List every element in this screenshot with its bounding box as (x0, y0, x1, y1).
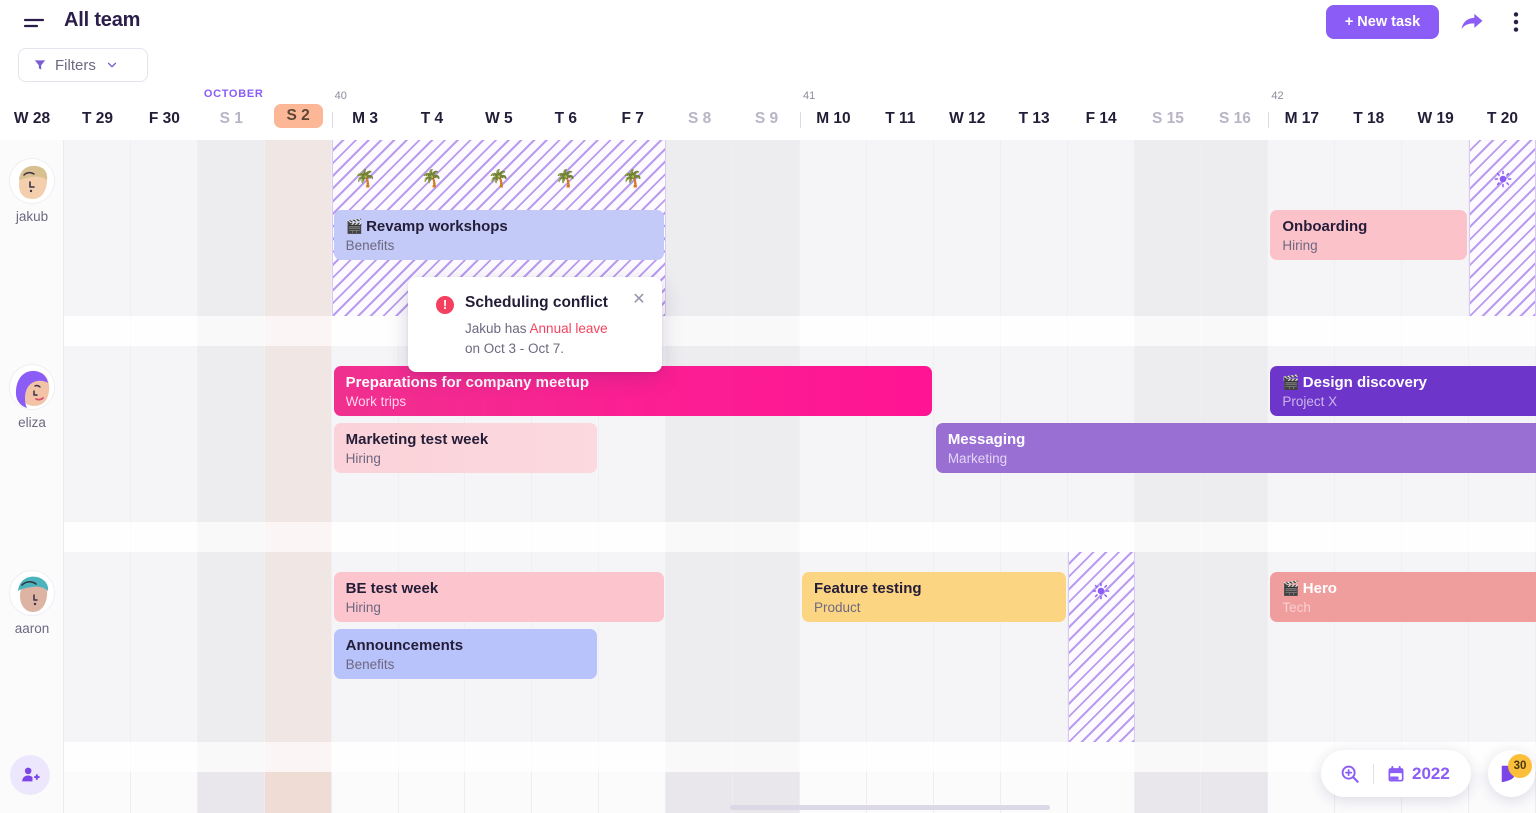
task-project: Work trips (346, 394, 932, 410)
date-label: S 1 (220, 110, 243, 128)
task-project: Benefits (346, 657, 598, 673)
row-gap (64, 522, 1536, 552)
task-project: Product (814, 600, 1066, 616)
person-name: eliza (6, 415, 58, 430)
sidebar-person[interactable]: aaron (6, 570, 58, 636)
date-header-cell[interactable]: T 29 (64, 88, 131, 140)
date-label: F 30 (149, 110, 180, 128)
conflict-title: Scheduling conflict (465, 294, 608, 312)
date-label: F 14 (1086, 110, 1117, 128)
timeline-date-header: W 28T 29F 30S 1S 2M 3T 4W 5T 6F 7S 8S 9M… (0, 88, 1536, 140)
task-bar[interactable]: AnnouncementsBenefits (334, 629, 598, 679)
task-bar[interactable]: Feature testingProduct (802, 572, 1066, 622)
task-bar[interactable]: Preparations for company meetupWork trip… (334, 366, 932, 416)
date-header-cell[interactable]: S 2 (265, 88, 332, 140)
date-label: M 10 (816, 110, 850, 128)
date-label: W 19 (1418, 110, 1454, 128)
date-label: S 2 (274, 104, 323, 129)
sun-icon (1068, 582, 1135, 605)
week-divider (800, 112, 801, 128)
add-person-button[interactable] (10, 755, 50, 795)
date-label: S 16 (1219, 110, 1251, 128)
date-header-cell[interactable]: W 12 (934, 88, 1001, 140)
date-label: T 11 (885, 110, 915, 128)
palm-tree-icon: 🌴 (332, 170, 399, 187)
people-sidebar: jakubelizaaaron (0, 140, 64, 813)
date-label: M 17 (1285, 110, 1319, 128)
avatar[interactable] (9, 364, 55, 410)
row-gap (64, 316, 1536, 346)
task-project: Tech (1282, 600, 1536, 616)
week-number: 42 (1271, 90, 1283, 102)
new-task-button[interactable]: + New task (1326, 5, 1439, 39)
date-label: T 13 (1019, 110, 1050, 128)
task-title: Preparations for company meetup (346, 374, 932, 391)
alert-icon: ! (436, 296, 454, 314)
page-title: All team (64, 9, 140, 32)
sidebar-person[interactable]: eliza (6, 364, 58, 430)
date-header-cell[interactable]: F 30 (131, 88, 198, 140)
task-title: 🎬Design discovery (1282, 374, 1536, 391)
close-icon[interactable]: ✕ (630, 291, 648, 309)
task-bar[interactable]: BE test weekHiring (334, 572, 665, 622)
task-emoji-icon: 🎬 (1282, 374, 1299, 390)
leave-block[interactable] (1469, 140, 1536, 316)
week-number: 40 (335, 90, 347, 102)
palm-tree-icon: 🌴 (599, 170, 666, 187)
task-bar[interactable]: 🎬Design discoveryProject X (1270, 366, 1536, 416)
year-label[interactable]: 2022 (1412, 764, 1450, 784)
task-project: Marketing (948, 451, 1536, 467)
task-bar[interactable]: MessagingMarketing (936, 423, 1536, 473)
task-title: Onboarding (1282, 218, 1467, 235)
share-icon[interactable] (1458, 8, 1486, 36)
more-vertical-icon[interactable] (1502, 8, 1530, 36)
task-bar[interactable]: OnboardingHiring (1270, 210, 1467, 260)
leave-block[interactable] (1068, 552, 1135, 742)
task-project: Benefits (346, 238, 665, 254)
palm-tree-icon: 🌴 (399, 170, 466, 187)
date-label: W 12 (949, 110, 985, 128)
avatar[interactable] (9, 570, 55, 616)
task-project: Project X (1282, 394, 1536, 410)
date-header-cell[interactable]: F 7 (599, 88, 666, 140)
conflict-body-prefix: Jakub has (465, 321, 530, 336)
month-label: OCTOBER (204, 88, 264, 100)
task-title: Messaging (948, 431, 1536, 448)
date-label: T 20 (1487, 110, 1518, 128)
sun-icon (1469, 170, 1536, 193)
date-header-cell[interactable]: S 9 (733, 88, 800, 140)
horizontal-scrollbar[interactable] (730, 805, 1050, 810)
person-name: jakub (6, 209, 58, 224)
task-emoji-icon: 🎬 (1282, 580, 1299, 596)
date-label: W 28 (14, 110, 50, 128)
filters-label: Filters (55, 57, 96, 74)
conflict-body: Jakub has Annual leave on Oct 3 - Oct 7. (465, 319, 645, 358)
week-divider (1268, 112, 1269, 128)
flag-badge: 30 (1508, 754, 1532, 778)
avatar[interactable] (9, 158, 55, 204)
scheduling-conflict-popup[interactable]: ! Scheduling conflict ✕ Jakub has Annual… (408, 277, 662, 372)
task-bar[interactable]: Marketing test weekHiring (334, 423, 598, 473)
date-header-cell[interactable]: T 11 (867, 88, 934, 140)
date-header-cell[interactable]: F 14 (1068, 88, 1135, 140)
task-bar[interactable]: 🎬HeroTech (1270, 572, 1536, 622)
timeline-plot: 🌴🌴🌴🌴🌴🎬Revamp workshopsBenefitsOnboarding… (64, 140, 1536, 813)
zoom-in-icon[interactable] (1339, 763, 1361, 785)
task-project: Hiring (1282, 238, 1467, 254)
date-label: T 18 (1353, 110, 1384, 128)
date-header-cell[interactable]: T 6 (532, 88, 599, 140)
date-label: S 8 (688, 110, 711, 128)
date-header-cell[interactable]: S 16 (1201, 88, 1268, 140)
flag-button[interactable]: 30 (1488, 750, 1535, 797)
date-header-cell[interactable]: T 4 (399, 88, 466, 140)
task-title: BE test week (346, 580, 665, 597)
sidebar-person[interactable]: jakub (6, 158, 58, 224)
top-bar: All team + New task Filters (0, 0, 1536, 88)
date-header-cell[interactable]: S 8 (666, 88, 733, 140)
calendar-icon[interactable] (1386, 764, 1406, 784)
date-label: M 3 (352, 110, 378, 128)
add-person-icon (19, 764, 41, 786)
conflict-body-suffix: on Oct 3 - Oct 7. (465, 341, 564, 356)
date-label: W 5 (485, 110, 513, 128)
task-title: 🎬Revamp workshops (346, 218, 665, 235)
funnel-icon (33, 58, 47, 72)
date-header-cell[interactable]: T 20 (1469, 88, 1536, 140)
hamburger-icon[interactable] (22, 12, 46, 36)
date-label: S 9 (755, 110, 778, 128)
timeline-grid: 🌴🌴🌴🌴🌴🎬Revamp workshopsBenefitsOnboarding… (0, 140, 1536, 813)
date-label: T 4 (421, 110, 443, 128)
task-title: Announcements (346, 637, 598, 654)
date-label: T 29 (82, 110, 113, 128)
date-header-cell[interactable]: T 18 (1335, 88, 1402, 140)
date-header-cell[interactable]: W 19 (1402, 88, 1469, 140)
task-emoji-icon: 🎬 (346, 218, 363, 234)
chevron-down-icon (105, 58, 119, 72)
task-title: 🎬Hero (1282, 580, 1536, 597)
row-gap (64, 742, 1536, 772)
week-number: 41 (803, 90, 815, 102)
date-header-cell[interactable]: W 5 (465, 88, 532, 140)
task-project: Hiring (346, 600, 665, 616)
palm-tree-icon: 🌴 (532, 170, 599, 187)
divider (1373, 764, 1374, 784)
filters-button[interactable]: Filters (18, 48, 148, 82)
week-divider (332, 112, 333, 128)
zoom-control-bar: 2022 (1321, 750, 1471, 797)
palm-tree-icon: 🌴 (465, 170, 532, 187)
task-project: Hiring (346, 451, 598, 467)
task-title: Marketing test week (346, 431, 598, 448)
task-bar[interactable]: 🎬Revamp workshopsBenefits (334, 210, 665, 260)
date-header-cell[interactable]: W 28 (0, 88, 64, 140)
date-label: T 6 (555, 110, 577, 128)
task-title: Feature testing (814, 580, 1066, 597)
date-label: F 7 (622, 110, 644, 128)
conflict-body-highlight: Annual leave (530, 321, 608, 336)
date-header-cell[interactable]: S 15 (1135, 88, 1202, 140)
date-label: S 15 (1152, 110, 1184, 128)
date-header-cell[interactable]: T 13 (1001, 88, 1068, 140)
person-name: aaron (6, 621, 58, 636)
